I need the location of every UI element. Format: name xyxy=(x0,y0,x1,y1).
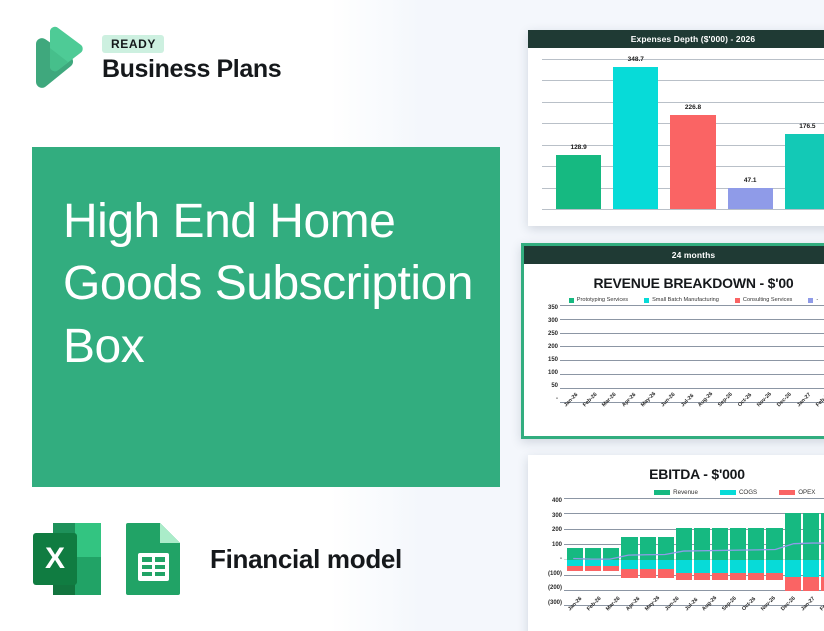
y-tick: (300) xyxy=(536,600,562,606)
chart-card-ebitda: EBITDA - $'000 Revenue COGS OPEX 0 xyxy=(528,455,824,631)
chart-banner-24-months: 24 months xyxy=(524,246,824,264)
bar-value-label: 348.7 xyxy=(613,56,658,63)
microsoft-excel-icon: X xyxy=(31,521,103,597)
ebitda-y-axis: 400 300 200 100 - (100) (200) (300) xyxy=(536,498,562,606)
y-tick: 200 xyxy=(536,527,562,533)
legend-swatch-icon xyxy=(808,298,813,303)
y-tick: 150 xyxy=(532,357,558,363)
chart-card-revenue-breakdown: 24 months REVENUE BREAKDOWN - $'00 Proto… xyxy=(521,243,824,439)
hero-panel: High End Home Goods Subscription Box xyxy=(32,147,500,487)
legend-label: Prototyping Services xyxy=(577,297,628,303)
footer-row: X Financial model xyxy=(31,521,402,597)
y-tick: 300 xyxy=(536,513,562,519)
bar-4: 47.1 xyxy=(728,188,773,209)
legend-item: Revenue xyxy=(654,489,698,496)
bar-value-label: 47.1 xyxy=(728,177,773,184)
y-tick: 50 xyxy=(532,383,558,389)
legend-label: OPEX xyxy=(798,489,815,496)
chart-legend-revenue: Prototyping Services Small Batch Manufac… xyxy=(532,297,824,303)
legend-label: COGS xyxy=(739,489,757,496)
revenue-x-axis: Jan-26Feb-26Mar-26Apr-26May-26Jun-26Jul-… xyxy=(560,402,824,428)
chart-legend-ebitda: Revenue COGS OPEX 0 xyxy=(536,489,824,496)
y-tick: (100) xyxy=(536,571,562,577)
google-sheets-icon xyxy=(122,521,185,597)
ebitda-zero-line-series xyxy=(564,498,824,606)
brand-logo-block: READY Business Plans xyxy=(26,26,281,90)
poster-root: READY Business Plans High End Home Goods… xyxy=(0,0,824,631)
legend-swatch-icon xyxy=(735,298,740,303)
y-tick: - xyxy=(532,396,558,402)
play-triangle-logo-icon xyxy=(26,26,88,90)
y-tick: - xyxy=(536,556,562,562)
bar-2: 348.7 xyxy=(613,67,658,210)
y-tick: 400 xyxy=(536,498,562,504)
legend-item: Small Batch Manufacturing xyxy=(644,297,719,303)
legend-item: Consulting Services xyxy=(735,297,792,303)
legend-swatch-icon xyxy=(779,490,795,495)
chart-body-ebitda: EBITDA - $'000 Revenue COGS OPEX 0 xyxy=(528,455,824,631)
y-tick: 200 xyxy=(532,344,558,350)
ebitda-x-axis: Jan-26Feb-26Mar-26Apr-26May-26Jun-26Jul-… xyxy=(564,606,824,631)
legend-swatch-icon xyxy=(654,490,670,495)
legend-swatch-icon xyxy=(720,490,736,495)
y-tick: (200) xyxy=(536,585,562,591)
bar-5: 176.5 xyxy=(785,134,824,209)
chart-title-ebitda: EBITDA - $'000 xyxy=(536,466,824,482)
brand-text: READY Business Plans xyxy=(102,35,281,82)
legend-label: Revenue xyxy=(673,489,698,496)
y-tick: 250 xyxy=(532,331,558,337)
bar-1: 128.9 xyxy=(556,155,601,209)
chart-body-revenue: REVENUE BREAKDOWN - $'00 Prototyping Ser… xyxy=(524,264,824,434)
brand-name: Business Plans xyxy=(102,57,281,82)
legend-item: OPEX xyxy=(779,489,815,496)
ready-badge: READY xyxy=(102,35,164,53)
y-tick: 100 xyxy=(532,370,558,376)
chart-title-revenue: REVENUE BREAKDOWN - $'00 xyxy=(532,275,824,291)
bar-3: 226.8 xyxy=(670,115,715,210)
page-title: High End Home Goods Subscription Box xyxy=(63,191,483,378)
bar-value-label: 226.8 xyxy=(670,104,715,111)
bar-value-label: 128.9 xyxy=(556,144,601,151)
legend-item: - xyxy=(808,297,818,303)
y-tick: 300 xyxy=(532,318,558,324)
y-tick: 100 xyxy=(536,542,562,548)
revenue-plot-wrap: 350 300 250 200 150 100 50 - xyxy=(532,305,824,428)
legend-swatch-icon xyxy=(569,298,574,303)
expenses-bars: 128.9 348.7 226.8 47.1 xyxy=(542,59,824,209)
legend-label: Consulting Services xyxy=(743,297,792,303)
legend-item: Prototyping Services xyxy=(569,297,628,303)
bar-value-label: 176.5 xyxy=(785,123,824,130)
legend-label: Small Batch Manufacturing xyxy=(652,297,719,303)
revenue-y-axis: 350 300 250 200 150 100 50 - xyxy=(532,305,558,402)
revenue-plot xyxy=(560,305,824,402)
chart-body-expenses: 128.9 348.7 226.8 47.1 xyxy=(528,48,824,215)
footer-label: Financial model xyxy=(210,544,402,575)
legend-swatch-icon xyxy=(644,298,649,303)
y-tick: 350 xyxy=(532,305,558,311)
legend-label: - xyxy=(816,297,818,303)
expenses-bar-row: 128.9 348.7 226.8 47.1 xyxy=(542,59,824,209)
ebitda-plot-wrap: 400 300 200 100 - (100) (200) (300) xyxy=(536,498,824,631)
revenue-columns xyxy=(560,305,824,402)
svg-text:X: X xyxy=(45,542,65,575)
legend-item: COGS xyxy=(720,489,757,496)
ebitda-plot xyxy=(564,498,824,606)
chart-card-expenses-depth: Expenses Depth ($'000) - 2026 128.9 348.… xyxy=(528,30,824,226)
chart-title-expenses: Expenses Depth ($'000) - 2026 xyxy=(528,30,824,48)
